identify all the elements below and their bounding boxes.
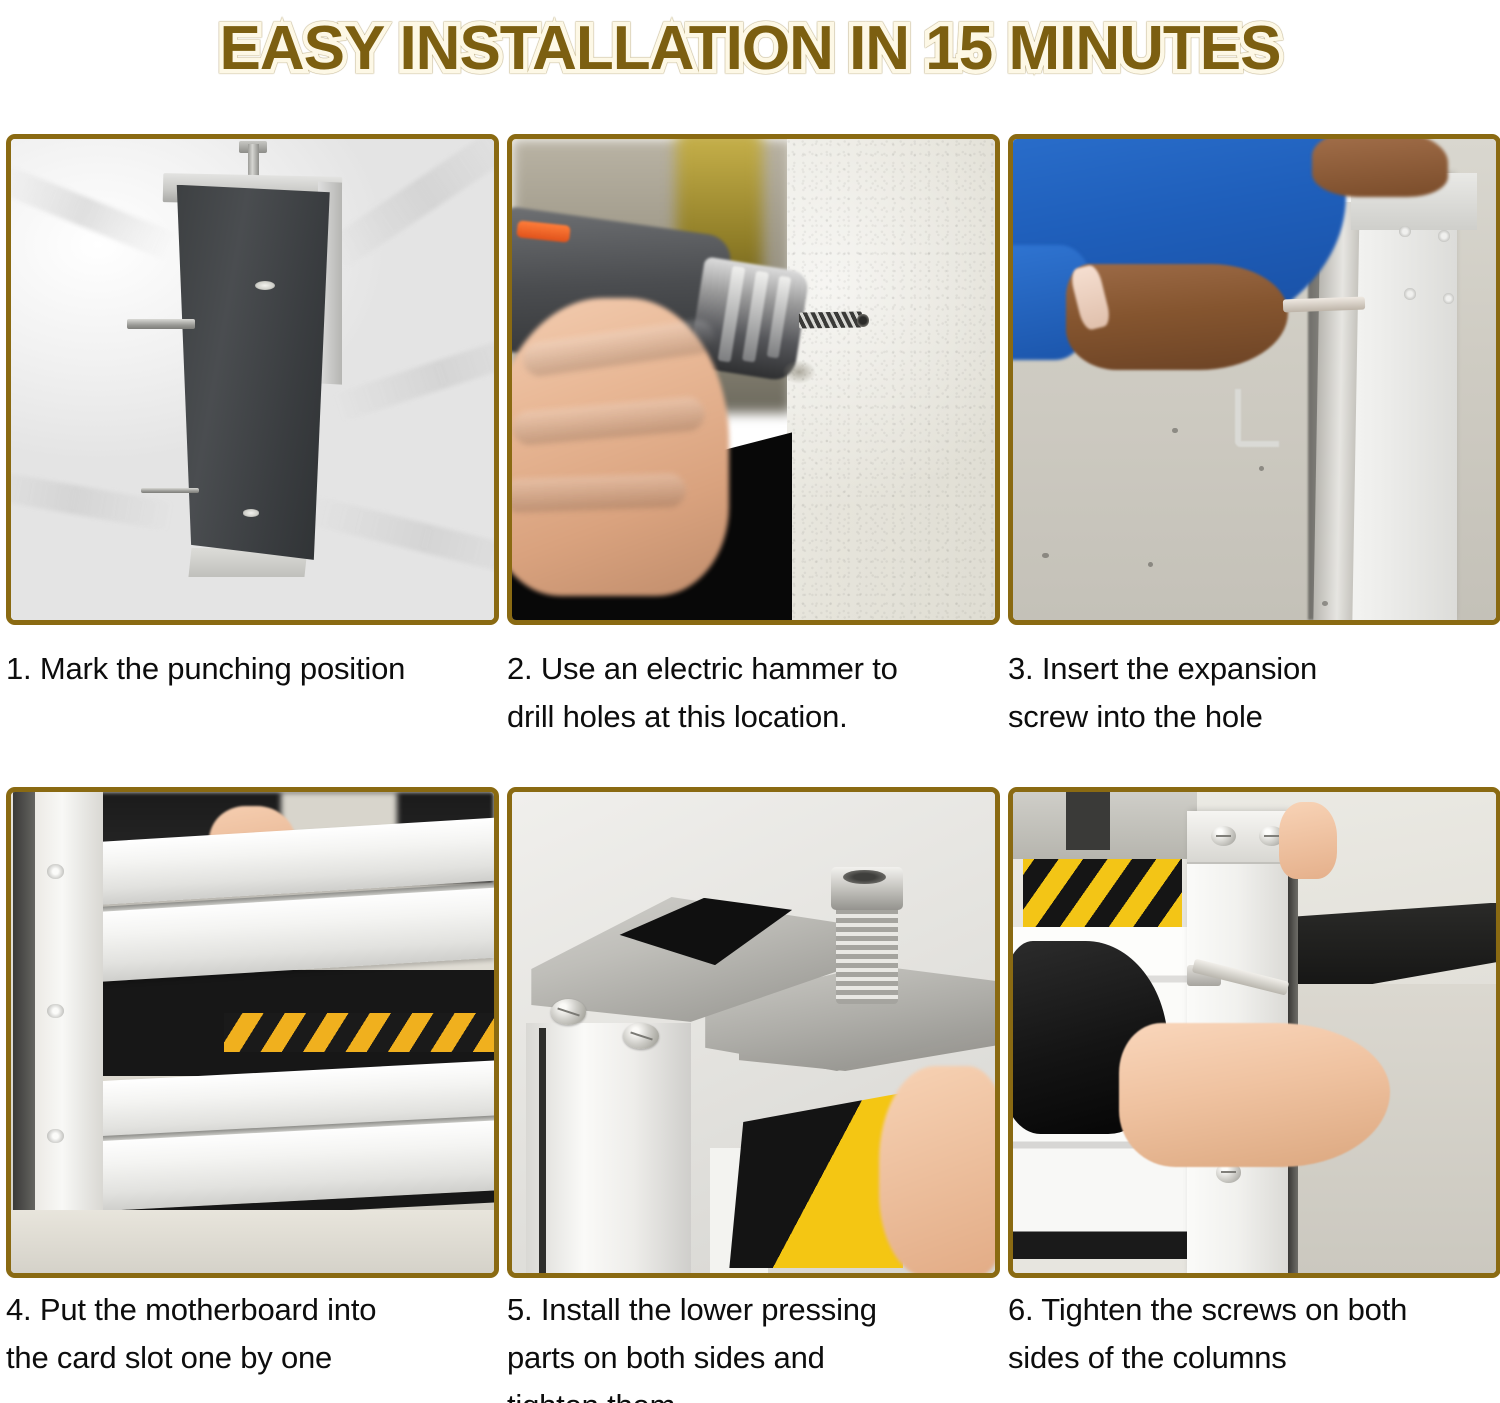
step-1-caption-cell: 1. Mark the punching position xyxy=(6,639,499,787)
step-3-photo-cell xyxy=(1008,134,1500,639)
step-3-image xyxy=(1013,139,1496,620)
step-5-photo-frame xyxy=(507,787,1000,1278)
expansion-screw xyxy=(1283,296,1365,311)
mounting-hole-upper xyxy=(255,281,275,290)
worker-upper-hand xyxy=(1312,139,1447,197)
step-6-photo-cell xyxy=(1008,787,1500,1280)
floor-speck xyxy=(1259,466,1264,471)
step-1-caption: 1. Mark the punching position xyxy=(6,639,499,693)
page-title: EASY INSTALLATION IN 15 MINUTES xyxy=(220,13,1281,84)
mounting-hole-lower xyxy=(243,509,259,516)
step-2-caption-cell: 2. Use an electric hammer to drill holes… xyxy=(507,639,1000,787)
installer-upper-hand xyxy=(1279,802,1337,879)
step-2-caption: 2. Use an electric hammer to drill holes… xyxy=(507,639,1000,741)
step-5-caption: 5. Install the lower pressing parts on b… xyxy=(507,1280,1000,1403)
step-1-photo-cell xyxy=(6,134,499,639)
floor-speck xyxy=(1042,553,1049,559)
white-column xyxy=(526,1023,690,1273)
floor-speck xyxy=(1322,601,1328,606)
post-screw xyxy=(47,864,63,878)
installer-finger xyxy=(879,1066,995,1273)
step-4-caption-cell: 4. Put the motherboard into the card slo… xyxy=(6,1280,499,1396)
expansion-pin-upper xyxy=(127,319,195,328)
step-2-photo-frame xyxy=(507,134,1000,625)
expansion-pin-lower xyxy=(141,488,199,494)
installer-hand xyxy=(1119,1023,1389,1167)
finger-crease xyxy=(512,472,686,512)
bracket-plate xyxy=(170,185,329,560)
drill-bit xyxy=(799,312,862,329)
column-screw xyxy=(1399,226,1411,238)
background-dark-bar xyxy=(1066,792,1109,850)
step-4-photo-frame xyxy=(6,787,499,1278)
step-1-image xyxy=(11,139,494,620)
step-4-image xyxy=(11,792,494,1273)
post-screw xyxy=(47,1129,63,1143)
step-6-image xyxy=(1013,792,1496,1273)
hazard-stripe-tape xyxy=(224,1013,494,1051)
floor xyxy=(11,1210,494,1273)
step-3-caption: 3. Insert the expansion screw into the h… xyxy=(1008,639,1500,741)
post-dark-edge xyxy=(13,792,37,1235)
installation-guide-page: EASY INSTALLATION IN 15 MINUTES xyxy=(0,0,1500,1403)
step-5-image xyxy=(512,792,995,1273)
drill-dust xyxy=(782,360,816,384)
hazard-tape xyxy=(1023,859,1182,926)
column-groove xyxy=(539,1028,547,1273)
step-4-photo-cell xyxy=(6,787,499,1280)
step-6-caption-cell: 6. Tighten the screws on both sides of t… xyxy=(1008,1280,1500,1396)
step-3-caption-cell: 3. Insert the expansion screw into the h… xyxy=(1008,639,1500,787)
step-4-caption: 4. Put the motherboard into the card slo… xyxy=(6,1280,499,1382)
textured-wall xyxy=(787,139,995,620)
step-2-image xyxy=(512,139,995,620)
step-6-caption: 6. Tighten the screws on both sides of t… xyxy=(1008,1280,1500,1382)
step-1-photo-frame xyxy=(6,134,499,625)
step-6-photo-frame xyxy=(1008,787,1500,1278)
column-screw xyxy=(1438,230,1450,242)
allen-key xyxy=(1235,389,1278,447)
step-3-photo-frame xyxy=(1008,134,1500,625)
page-title-banner: EASY INSTALLATION IN 15 MINUTES xyxy=(0,0,1500,96)
step-2-photo-cell xyxy=(507,134,1000,639)
bracket-screw xyxy=(623,1023,659,1049)
step-5-photo-cell xyxy=(507,787,1000,1280)
bracket-screw xyxy=(551,999,587,1025)
slotted-post xyxy=(35,792,103,1273)
steps-grid: 1. Mark the punching position 2. Use an … xyxy=(6,134,1496,1396)
post-screw xyxy=(47,1004,63,1018)
column-screw xyxy=(1404,288,1416,300)
column-screw-top-left xyxy=(1211,826,1236,846)
drilled-hole xyxy=(857,314,869,327)
step-5-caption-cell: 5. Install the lower pressing parts on b… xyxy=(507,1280,1000,1396)
